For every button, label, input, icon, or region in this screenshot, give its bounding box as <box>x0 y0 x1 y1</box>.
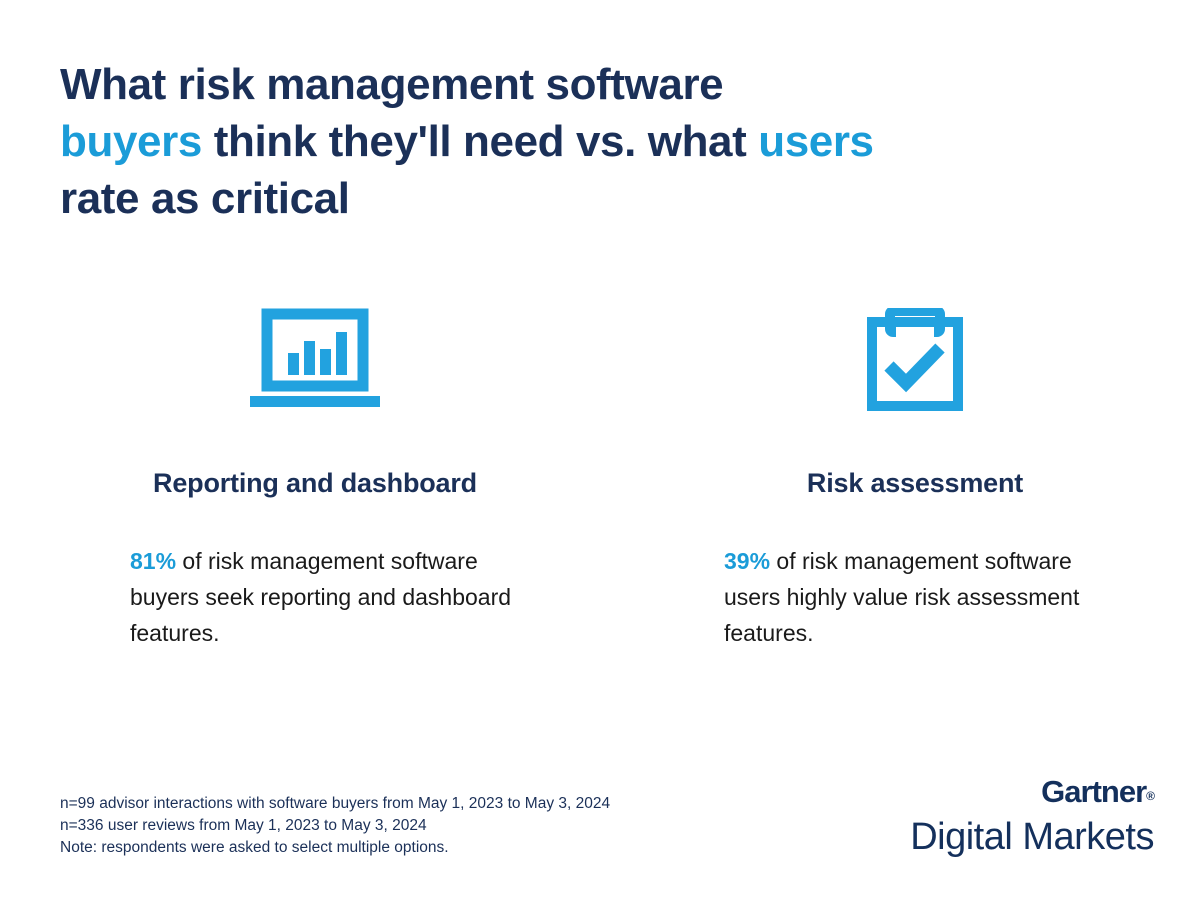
title-line-3: rate as critical <box>60 170 1050 227</box>
title-accent-buyers: buyers <box>60 117 202 166</box>
footnote-line-2: n=336 user reviews from May 1, 2023 to M… <box>60 815 610 837</box>
stat-column-reporting: Reporting and dashboard 81% of risk mana… <box>0 300 600 651</box>
footnote-line-3: Note: respondents were asked to select m… <box>60 837 610 859</box>
laptop-dashboard-icon <box>245 300 385 420</box>
stat-value-81: 81% <box>130 548 176 574</box>
logo-brand-name: Gartner® <box>910 775 1154 813</box>
stat-description-reporting: of risk management software buyers seek … <box>130 548 511 646</box>
clipboard-check-icon <box>860 300 970 420</box>
column-heading-risk-assessment: Risk assessment <box>807 468 1023 499</box>
title-accent-users: users <box>758 117 873 166</box>
footnote: n=99 advisor interactions with software … <box>60 793 610 859</box>
title-line-3-text: rate as critical <box>60 174 350 223</box>
stat-description-risk-assessment: of risk management software users highly… <box>724 548 1079 646</box>
title-line-1-text: What risk management software <box>60 60 723 109</box>
logo-product-name: Digital Markets <box>910 815 1154 859</box>
title-line-1: What risk management software <box>60 56 1050 113</box>
stat-columns: Reporting and dashboard 81% of risk mana… <box>0 300 1200 651</box>
stat-value-39: 39% <box>724 548 770 574</box>
column-body-risk-assessment: 39% of risk management software users hi… <box>724 543 1124 651</box>
column-heading-reporting: Reporting and dashboard <box>153 468 477 499</box>
gartner-digital-markets-logo: Gartner® Digital Markets <box>910 775 1154 859</box>
registered-trademark-icon: ® <box>1146 789 1154 803</box>
title-line-2-text: think they'll need vs. what <box>202 117 758 166</box>
footnote-line-1: n=99 advisor interactions with software … <box>60 793 610 815</box>
stat-column-risk-assessment: Risk assessment 39% of risk management s… <box>600 300 1200 651</box>
title-line-2: buyers think they'll need vs. what users <box>60 113 1050 170</box>
page-title: What risk management software buyers thi… <box>60 56 1050 227</box>
logo-brand-text: Gartner <box>1041 774 1146 809</box>
column-body-reporting: 81% of risk management software buyers s… <box>130 543 530 651</box>
infographic-canvas: What risk management software buyers thi… <box>0 0 1200 900</box>
